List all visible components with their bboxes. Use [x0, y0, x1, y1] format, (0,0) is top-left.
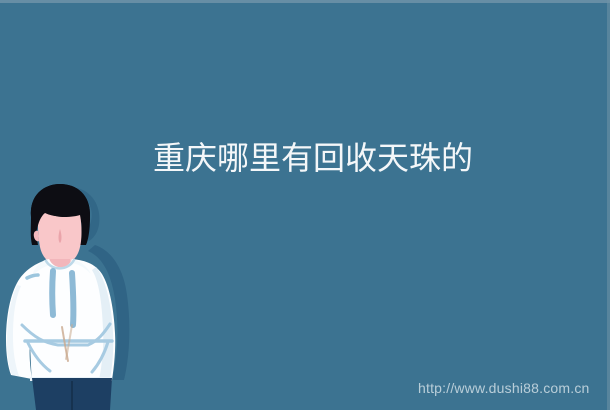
person-illustration-svg	[0, 175, 150, 410]
person-illustration	[0, 175, 150, 410]
pants-group	[32, 378, 112, 410]
watermark-url: http://www.dushi88.com.cn	[418, 379, 590, 397]
hoodie-group	[6, 259, 115, 381]
top-edge-highlight	[0, 0, 610, 3]
image-canvas: 重庆哪里有回收天珠的 http://www.dushi88.com.cn	[0, 0, 610, 410]
page-title: 重庆哪里有回收天珠的	[0, 138, 610, 178]
